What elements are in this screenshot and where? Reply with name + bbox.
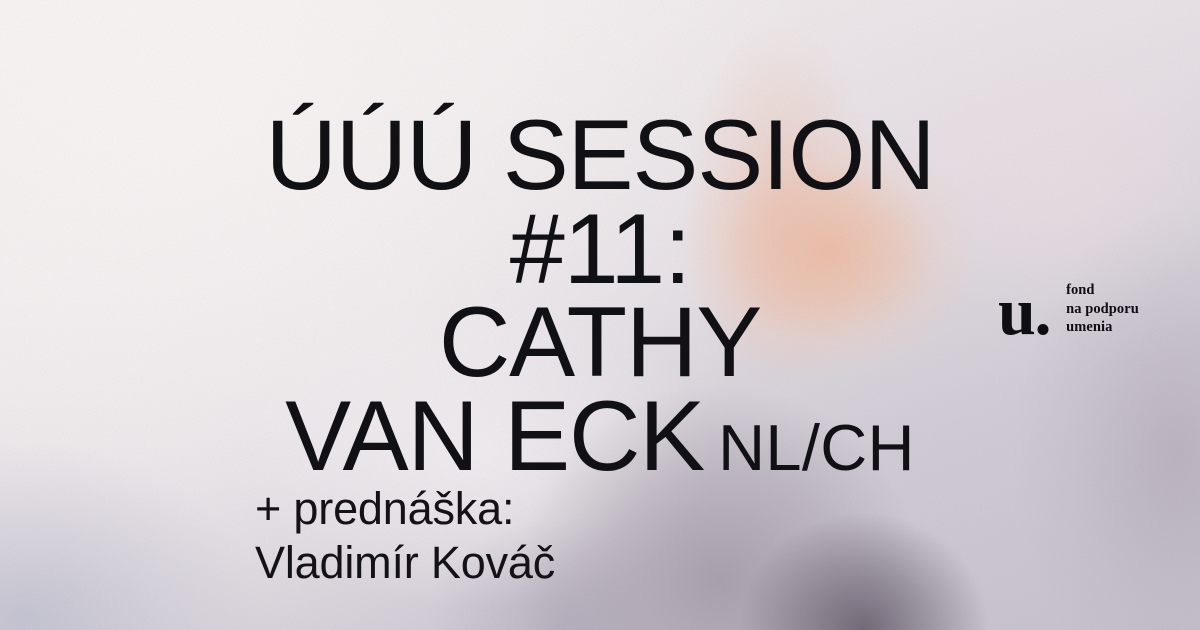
- artist-name: VAN ECK: [285, 380, 704, 491]
- lecture-credit: + prednáška: Vladimír Kováč: [255, 482, 555, 589]
- fpu-logo: u. fond na podporu umenia: [998, 281, 1139, 337]
- fpu-logo-line-1: fond: [1066, 281, 1139, 300]
- country-tag: NL/CH: [704, 411, 915, 484]
- headline-line-4: VAN ECKNL/CH: [0, 389, 1200, 483]
- poster-canvas: ÚÚÚ SESSION #11: CATHY VAN ECKNL/CH + pr…: [0, 0, 1200, 630]
- fpu-logo-line-2: na podporu: [1066, 300, 1139, 319]
- fpu-logo-wordmark: fond na podporu umenia: [1066, 281, 1139, 337]
- lecture-label: + prednáška:: [255, 482, 555, 536]
- fpu-logo-mark: u.: [998, 286, 1050, 336]
- lecturer-name: Vladimír Kováč: [255, 536, 555, 590]
- headline-line-1: ÚÚÚ SESSION: [0, 108, 1200, 202]
- fpu-logo-line-3: umenia: [1066, 318, 1139, 337]
